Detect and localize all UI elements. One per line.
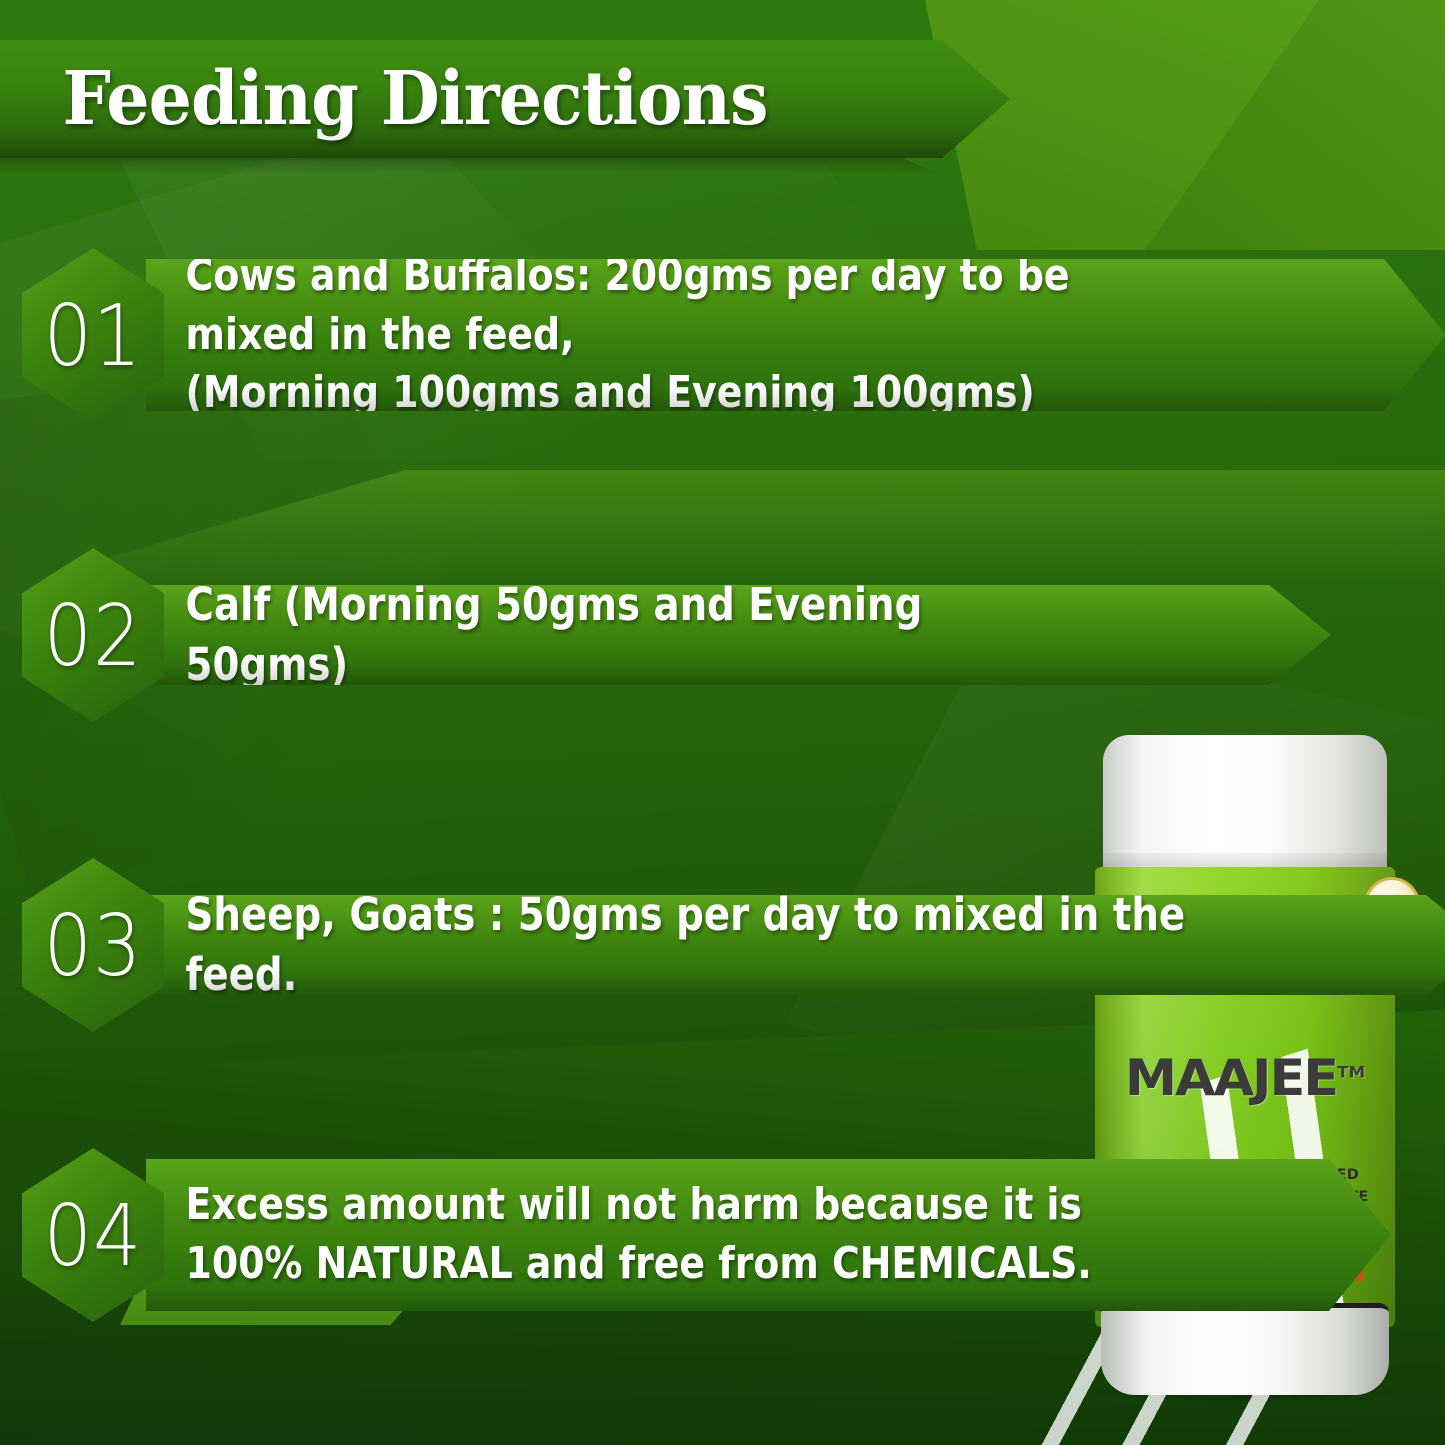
page-title: Feeding Directions bbox=[0, 56, 768, 142]
feeding-step-row: 02 Calf (Morning 50gms and Evening 50gms… bbox=[22, 548, 1331, 722]
step-text: Calf (Morning 50gms and Evening 50gms) bbox=[146, 575, 1165, 696]
brand-text: MAAJEE bbox=[1125, 1049, 1337, 1107]
step-number: 04 bbox=[44, 1185, 143, 1285]
trademark-symbol: TM bbox=[1337, 1062, 1365, 1081]
feeding-step-row: 04 Excess amount will not harm because i… bbox=[22, 1148, 1391, 1322]
step-number-badge: 02 bbox=[22, 548, 164, 722]
step-number-badge: 01 bbox=[22, 248, 164, 422]
step-text: Cows and Buffalos: 200gms per day to be … bbox=[146, 247, 1264, 424]
feeding-step-row: 01 Cows and Buffalos: 200gms per day to … bbox=[22, 248, 1445, 422]
title-banner-shadow bbox=[0, 158, 940, 174]
step-text-bar: Cows and Buffalos: 200gms per day to be … bbox=[146, 259, 1445, 411]
brand-name: MAAJEETM bbox=[1095, 1049, 1395, 1107]
step-number-badge: 03 bbox=[22, 858, 164, 1032]
step-number-badge: 04 bbox=[22, 1148, 164, 1322]
step-text: Excess amount will not harm because it i… bbox=[146, 1176, 1161, 1294]
step-number: 01 bbox=[44, 285, 143, 385]
page-title-banner: Feeding Directions bbox=[0, 40, 1010, 158]
step-number: 03 bbox=[44, 895, 143, 995]
step-text-bar: Sheep, Goats : 50gms per day to mixed in… bbox=[146, 895, 1445, 995]
infographic-canvas: Feeding Directions 01 Cows and Buffalos:… bbox=[0, 0, 1445, 1445]
bottle-cap bbox=[1103, 735, 1387, 875]
step-number: 02 bbox=[44, 585, 143, 685]
step-text-bar: Calf (Morning 50gms and Evening 50gms) bbox=[146, 585, 1331, 685]
step-text: Sheep, Goats : 50gms per day to mixed in… bbox=[146, 885, 1300, 1006]
step-text-bar: Excess amount will not harm because it i… bbox=[146, 1159, 1391, 1311]
